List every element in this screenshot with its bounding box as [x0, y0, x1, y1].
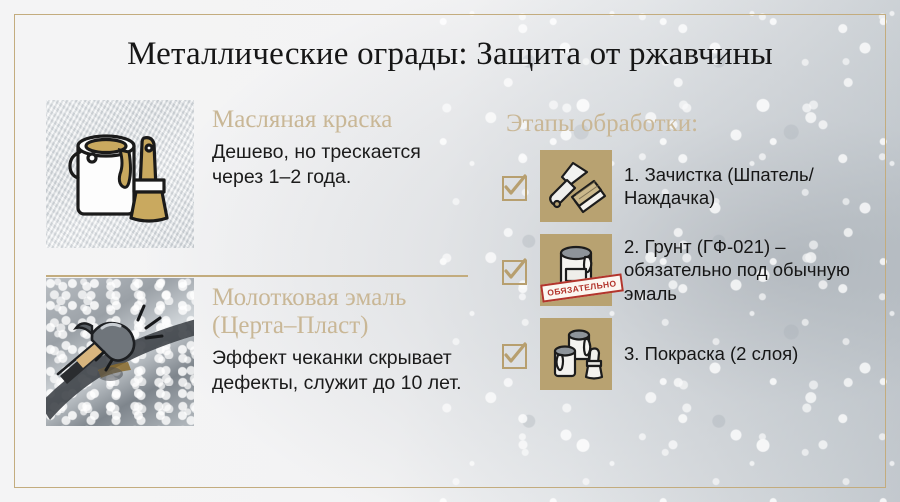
hammer-enamel-text: Молотковая эмаль (Церта–Пласт) Эффект че… [212, 278, 466, 396]
section-divider [46, 275, 468, 277]
comparison-block-hammer-enamel: Молотковая эмаль (Церта–Пласт) Эффект че… [46, 278, 466, 426]
step-3-label: 3. Покраска (2 слоя) [624, 342, 798, 365]
primer-can-icon: ОБЯЗАТЕЛЬНО [540, 234, 612, 306]
checkbox-checked-icon[interactable] [500, 256, 528, 284]
checkbox-checked-icon[interactable] [500, 172, 528, 200]
step-item-2[interactable]: ОБЯЗАТЕЛЬНО 2. Грунт (ГФ-021) – обязател… [500, 234, 890, 306]
page-title: Металлические ограды: Защита от ржавчины [0, 36, 900, 73]
hammer-enamel-heading: Молотковая эмаль (Церта–Пласт) [212, 284, 466, 340]
steps-heading: Этапы обработки: [506, 110, 890, 138]
step-item-1[interactable]: 1. Зачистка (Шпатель/Наждачка) [500, 150, 890, 222]
hammer-striking-metal-photo [46, 278, 194, 426]
oil-paint-text: Масляная краска Дешево, но трескается че… [212, 100, 466, 190]
step-item-3[interactable]: 3. Покраска (2 слоя) [500, 318, 890, 390]
oil-paint-heading: Масляная краска [212, 106, 466, 134]
step-1-label: 1. Зачистка (Шпатель/Наждачка) [624, 163, 890, 210]
hammer-enamel-body: Эффект чеканки скрывает дефекты, служит … [212, 346, 466, 396]
paint-cans-brush-icon [540, 318, 612, 390]
left-column: Масляная краска Дешево, но трескается че… [46, 100, 466, 426]
paint-can-brush-illustration [46, 100, 194, 248]
step-2-label: 2. Грунт (ГФ-021) – обязательно под обыч… [624, 235, 890, 305]
oil-paint-body: Дешево, но трескается через 1–2 года. [212, 140, 466, 190]
checkbox-checked-icon[interactable] [500, 340, 528, 368]
comparison-block-oil-paint: Масляная краска Дешево, но трескается че… [46, 100, 466, 248]
scraper-sandpaper-icon [540, 150, 612, 222]
right-column: Этапы обработки: [500, 110, 890, 402]
slide-canvas: Металлические ограды: Защита от ржавчины [0, 0, 900, 502]
